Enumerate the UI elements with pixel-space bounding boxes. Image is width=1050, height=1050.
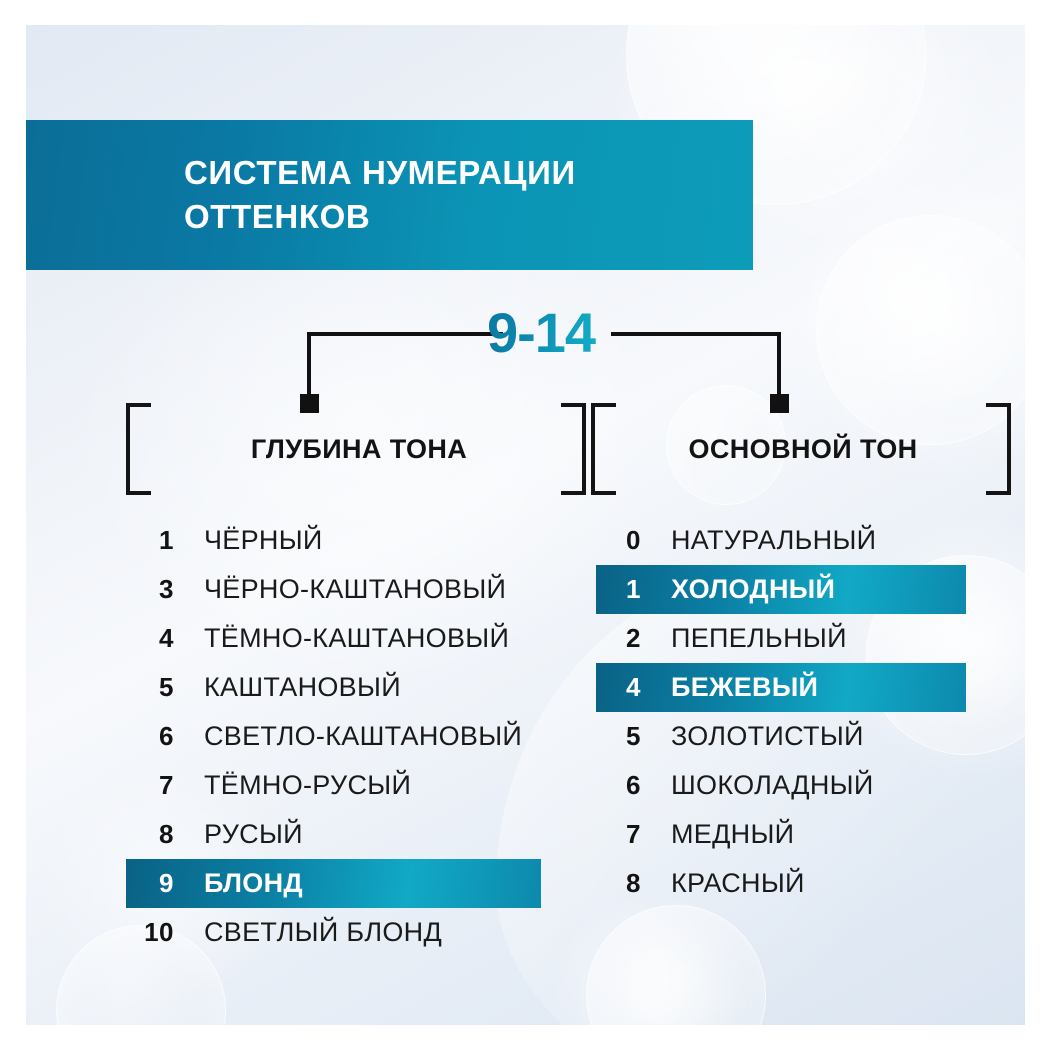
shade-number: 1	[596, 574, 641, 605]
list-item[interactable]: 3ЧЁРНО-КАШТАНОВЫЙ	[126, 565, 541, 614]
shade-name: СВЕТЛЫЙ БЛОНД	[204, 917, 442, 948]
shade-number: 5	[596, 721, 641, 752]
shade-name: ТЁМНО-РУСЫЙ	[204, 770, 411, 801]
list-item[interactable]: 6СВЕТЛО-КАШТАНОВЫЙ	[126, 712, 541, 761]
base-tone-list: 0НАТУРАЛЬНЫЙ1ХОЛОДНЫЙ2ПЕПЕЛЬНЫЙ4БЕЖЕВЫЙ5…	[591, 516, 1011, 908]
shade-name: МЕДНЫЙ	[671, 819, 794, 850]
bracket-left-icon	[591, 403, 616, 495]
shade-number: 7	[126, 770, 174, 801]
shade-number: 5	[126, 672, 174, 703]
column-depth-of-tone: ГЛУБИНА ТОНА 1ЧЁРНЫЙ3ЧЁРНО-КАШТАНОВЫЙ4ТЁ…	[126, 403, 586, 957]
list-item[interactable]: 1ЧЁРНЫЙ	[126, 516, 541, 565]
shade-number: 9	[126, 868, 174, 899]
shade-number: 0	[596, 525, 641, 556]
shade-number: 7	[596, 819, 641, 850]
connector-stem-right	[777, 332, 781, 396]
shade-name: БЛОНД	[204, 868, 303, 899]
column-heading-label: ОСНОВНОЙ ТОН	[591, 434, 1011, 465]
list-item[interactable]: 4БЕЖЕВЫЙ	[596, 663, 966, 712]
shade-name: РУСЫЙ	[204, 819, 303, 850]
depth-tone-list: 1ЧЁРНЫЙ3ЧЁРНО-КАШТАНОВЫЙ4ТЁМНО-КАШТАНОВЫ…	[126, 516, 586, 957]
page-title: СИСТЕМА НУМЕРАЦИИ ОТТЕНКОВ	[184, 151, 576, 238]
shade-range-label: 9-14	[466, 300, 616, 365]
title-banner: СИСТЕМА НУМЕРАЦИИ ОТТЕНКОВ	[26, 120, 753, 270]
list-item[interactable]: 6ШОКОЛАДНЫЙ	[596, 761, 966, 810]
shade-name: КАШТАНОВЫЙ	[204, 672, 401, 703]
shade-name: КРАСНЫЙ	[671, 868, 805, 899]
shade-number: 10	[126, 917, 174, 948]
shade-name: ТЁМНО-КАШТАНОВЫЙ	[204, 623, 509, 654]
shade-number: 6	[126, 721, 174, 752]
poster-canvas: СИСТЕМА НУМЕРАЦИИ ОТТЕНКОВ 9-14 ГЛУБИНА …	[26, 25, 1025, 1025]
shade-number: 3	[126, 574, 174, 605]
list-item[interactable]: 8РУСЫЙ	[126, 810, 541, 859]
shade-number: 6	[596, 770, 641, 801]
shade-number: 4	[126, 623, 174, 654]
shade-name: НАТУРАЛЬНЫЙ	[671, 525, 876, 556]
connector-line-right	[611, 332, 781, 336]
list-item[interactable]: 5ЗОЛОТИСТЫЙ	[596, 712, 966, 761]
shade-number: 8	[126, 819, 174, 850]
list-item[interactable]: 0НАТУРАЛЬНЫЙ	[596, 516, 966, 565]
list-item[interactable]: 5КАШТАНОВЫЙ	[126, 663, 541, 712]
list-item[interactable]: 7ТЁМНО-РУСЫЙ	[126, 761, 541, 810]
list-item[interactable]: 1ХОЛОДНЫЙ	[596, 565, 966, 614]
shade-name: ЧЁРНЫЙ	[204, 525, 323, 556]
list-item[interactable]: 8КРАСНЫЙ	[596, 859, 966, 908]
shade-name: ШОКОЛАДНЫЙ	[671, 770, 874, 801]
list-item[interactable]: 4ТЁМНО-КАШТАНОВЫЙ	[126, 614, 541, 663]
shade-number: 4	[596, 672, 641, 703]
shade-name: БЕЖЕВЫЙ	[671, 672, 818, 703]
connector-stem-left	[307, 332, 311, 396]
list-item[interactable]: 9БЛОНД	[126, 859, 541, 908]
connector-bracket: 9-14	[26, 300, 1025, 420]
list-item[interactable]: 7МЕДНЫЙ	[596, 810, 966, 859]
shade-number: 8	[596, 868, 641, 899]
shade-name: ПЕПЕЛЬНЫЙ	[671, 623, 847, 654]
shade-name: ХОЛОДНЫЙ	[671, 574, 835, 605]
bracket-left-icon	[126, 403, 151, 495]
shade-name: ЧЁРНО-КАШТАНОВЫЙ	[204, 574, 506, 605]
background-bubble-icon	[586, 905, 766, 1025]
column-heading-depth: ГЛУБИНА ТОНА	[126, 403, 586, 495]
bracket-right-icon	[561, 403, 586, 495]
shade-name: СВЕТЛО-КАШТАНОВЫЙ	[204, 721, 522, 752]
shade-number: 2	[596, 623, 641, 654]
shade-name: ЗОЛОТИСТЫЙ	[671, 721, 864, 752]
list-item[interactable]: 10СВЕТЛЫЙ БЛОНД	[126, 908, 541, 957]
bracket-right-icon	[986, 403, 1011, 495]
list-item[interactable]: 2ПЕПЕЛЬНЫЙ	[596, 614, 966, 663]
shade-number: 1	[126, 525, 174, 556]
column-heading-label: ГЛУБИНА ТОНА	[126, 434, 586, 465]
column-heading-base: ОСНОВНОЙ ТОН	[591, 403, 1011, 495]
column-base-tone: ОСНОВНОЙ ТОН 0НАТУРАЛЬНЫЙ1ХОЛОДНЫЙ2ПЕПЕЛ…	[591, 403, 1011, 908]
